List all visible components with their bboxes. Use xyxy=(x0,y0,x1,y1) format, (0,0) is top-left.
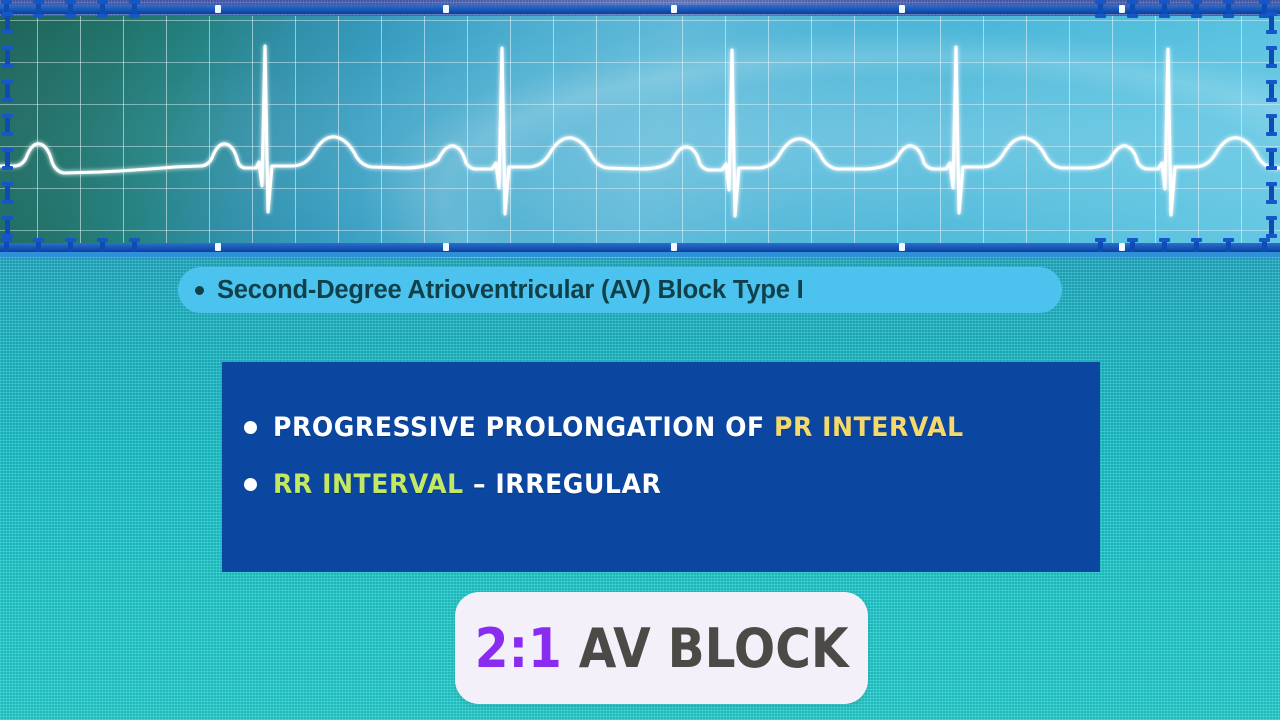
banner-text: 2:1 AV BLOCK xyxy=(475,617,849,680)
page-title: Second-Degree Atrioventricular (AV) Bloc… xyxy=(217,276,803,305)
bullet-dot-icon xyxy=(244,478,257,491)
slide-title-pill: Second-Degree Atrioventricular (AV) Bloc… xyxy=(178,267,1062,313)
facts-list: Progressive prolongation of PR interval … xyxy=(244,412,1090,526)
slide-root: Second-Degree Atrioventricular (AV) Bloc… xyxy=(0,0,1280,720)
banner-label: AV BLOCK xyxy=(562,617,849,680)
ecg-frame-top-bar xyxy=(0,5,1280,14)
ecg-strip-underline xyxy=(0,252,1280,257)
list-item: Progressive prolongation of PR interval xyxy=(244,412,1090,443)
fact-text: Progressive prolongation of PR interval xyxy=(273,412,964,443)
fact-highlight: PR interval xyxy=(774,412,964,443)
ecg-paper xyxy=(0,16,1280,243)
ecg-waveform-trace xyxy=(0,16,1280,243)
list-item: RR interval – Irregular xyxy=(244,469,1090,500)
bullet-dot-icon xyxy=(244,421,257,434)
facts-panel: Progressive prolongation of PR interval … xyxy=(222,362,1100,572)
fact-highlight: RR interval xyxy=(273,469,464,500)
ecg-frame-bottom-bar xyxy=(0,243,1280,252)
ecg-rhythm-strip xyxy=(0,0,1280,258)
bottom-banner: 2:1 AV BLOCK xyxy=(455,592,868,704)
fact-suffix: – Irregular xyxy=(464,469,662,500)
fact-text: RR interval – Irregular xyxy=(273,469,661,500)
fact-prefix: Progressive prolongation of xyxy=(273,412,774,443)
bullet-dot-icon xyxy=(195,286,204,295)
banner-ratio: 2:1 xyxy=(475,617,562,680)
